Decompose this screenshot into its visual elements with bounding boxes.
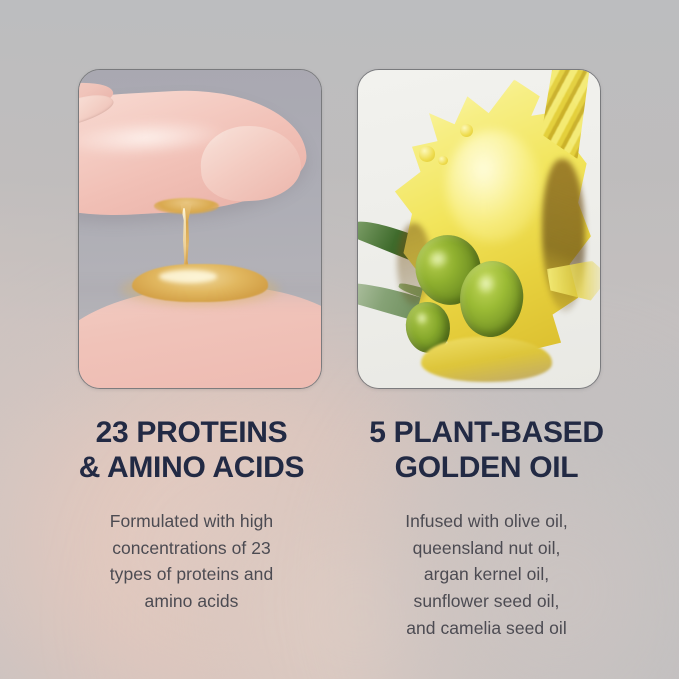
olive-highlight-3	[414, 310, 431, 327]
oil-pool-base	[421, 337, 552, 382]
feature-column-golden-oil: 5 PLANT-BASED GOLDEN OIL Infused with ol…	[353, 415, 620, 641]
feature-column-proteins: 23 PROTEINS & AMINO ACIDS Formulated wit…	[58, 415, 325, 641]
image-card-row	[78, 69, 601, 387]
olive-oil-card	[357, 69, 601, 389]
feature-text-columns: 23 PROTEINS & AMINO ACIDS Formulated wit…	[58, 415, 621, 641]
olive-highlight-1	[425, 246, 452, 272]
feature-body-golden-oil: Infused with olive oil, queensland nut o…	[353, 508, 620, 641]
serum-drip-card	[78, 69, 322, 389]
product-feature-poster: 23 PROTEINS & AMINO ACIDS Formulated wit…	[0, 0, 679, 679]
feature-body-proteins: Formulated with high concentrations of 2…	[58, 508, 325, 614]
olive-oil-photo	[358, 70, 600, 388]
oil-splash-highlight	[446, 130, 540, 242]
feature-heading-proteins: 23 PROTEINS & AMINO ACIDS	[58, 415, 325, 485]
oil-droplet-3	[438, 156, 448, 166]
olive-highlight-2	[474, 271, 498, 296]
feature-heading-golden-oil: 5 PLANT-BASED GOLDEN OIL	[353, 415, 620, 485]
serum-pool-highlight	[159, 270, 217, 283]
serum-drip-photo	[79, 70, 321, 388]
